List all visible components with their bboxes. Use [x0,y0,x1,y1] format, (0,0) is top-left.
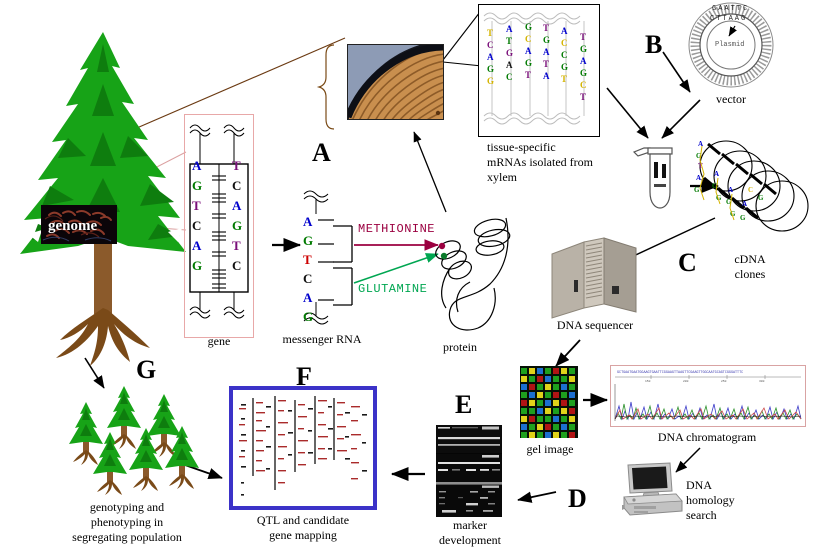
marker-development-caption: marker development [424,518,516,548]
base: A [506,24,513,36]
conifer-tree-icon [8,28,193,353]
gel-image [520,366,578,438]
svg-text:A: A [714,170,719,178]
gene-caption: gene [184,334,254,348]
plasmid-inner-label: Plasmid [715,41,744,49]
base: A [580,56,587,68]
chromatogram-caption: DNA chromatogram [612,430,802,444]
step-letter-B: B [645,30,662,60]
computer-caption: DNA homology search [686,478,766,523]
arrow-glutamine [354,254,438,283]
microcentrifuge-tube-icon [632,140,684,212]
step-letter-G: G [136,355,156,385]
base: G [487,64,494,76]
tissue-mrna-strand-1: A T G A C [506,24,513,84]
cdna-clones-caption: cDNA clones [710,252,790,282]
gene-base-right-2: A [232,198,242,218]
computer-caption-line-2: search [686,508,766,523]
mrna-bases: A G T C A G [303,214,313,328]
base: C [506,72,513,84]
mrna-base-1: G [303,233,313,252]
tissue-mrna-strand-0: T C A G G [487,28,494,88]
step-letter-E: E [455,390,472,420]
leader-wood-to-mrnabox-top [443,12,480,60]
tissue-mrna-caption-line-2: xylem [487,170,622,185]
base: C [561,50,568,62]
tissue-mrna-strand-5: T G A G C T [580,32,587,104]
population-caption-line-0: genotyping and [42,500,212,515]
base: G [525,58,532,70]
gene-base-right-3: G [232,218,242,238]
svg-text:GCTGAATGAATGGAAGTGAATTCGGAAGTT: GCTGAATGAATGGAAGTGAATTCGGAAGTTAAGTTCGAAG… [617,371,743,375]
gene-base-left-1: G [192,178,202,198]
gene-bases-left: A G T C A G [192,158,202,278]
arrow-mrnabox-to-tube [607,88,648,138]
arrow-computer-to-marker [518,492,556,500]
cdna-caption-line-0: cDNA [710,252,790,267]
svg-text:200: 200 [683,380,689,383]
base: G [543,35,550,47]
computer-caption-line-0: DNA [686,478,766,493]
base: A [525,46,532,58]
base: G [580,44,587,56]
mrna-base-2: T [303,252,313,271]
gene-base-left-5: G [192,258,202,278]
methionine-residue [439,243,445,249]
svg-text:C: C [748,186,753,194]
marker-caption-line-1: development [424,533,516,548]
gel-electrophoresis-graphic [520,366,578,438]
tissue-mrna-caption-line-0: tissue-specific [487,140,622,155]
step-letter-C: C [678,248,697,278]
glutamine-label: GLUTAMINE [358,282,427,296]
gene-base-right-5: C [232,258,242,278]
mrna-base-5: G [303,309,313,328]
step-letter-F: F [296,362,312,392]
restriction-site-bottom: CTTAAG [710,15,747,23]
gene-base-right-0: T [232,158,242,178]
cdna-caption-line-1: clones [710,267,790,282]
base: G [580,68,587,80]
tissue-mrna-strand-2: G C A G T [525,22,532,82]
svg-text:250: 250 [721,380,727,383]
desktop-computer-icon [622,461,694,517]
linkage-map-graphic [233,390,373,506]
step-letter-D: D [568,484,587,514]
gene-base-right-4: T [232,238,242,258]
base: T [506,36,513,48]
gel-image-caption: gel image [510,442,590,456]
base: A [543,47,550,59]
glutamine-residue [441,253,447,259]
leader-wood-to-mrnabox-bottom [443,62,482,66]
base: G [506,48,513,60]
step-letter-A: A [312,138,331,168]
svg-text:300: 300 [759,380,765,383]
diagram-canvas: genome A [0,0,815,550]
population-caption-line-2: segregating population [42,530,212,545]
svg-text:150: 150 [645,380,651,383]
brace-wood-left [319,45,334,129]
base: T [487,28,494,40]
svg-text:A: A [696,174,701,182]
qtl-caption-line-0: QTL and candidate [225,513,381,528]
base: C [487,40,494,52]
arrow-sequencer-to-gel [556,340,580,366]
gene-base-left-3: C [192,218,202,238]
base: A [543,71,550,83]
population-caption-line-1: phenotyping in [42,515,212,530]
tissue-mrna-caption-line-1: mRNAs isolated from [487,155,622,170]
qtl-mapping-caption: QTL and candidate gene mapping [225,513,381,543]
mrna-base-4: A [303,290,313,309]
tissue-mrna-caption: tissue-specific mRNAs isolated from xyle… [487,140,622,185]
base: T [543,59,550,71]
base: A [487,52,494,64]
marker-caption-line-0: marker [424,518,516,533]
svg-text:A: A [728,186,733,194]
tissue-mrna-strand-4: A C C G T [561,26,568,86]
dna-chromatogram-panel: GCTGAATGAATGGAAGTGAATTCGGAAGTTAAGTTCGAAG… [610,365,806,427]
tissue-mrna-strand-3: T G A T A [543,23,550,83]
base: T [580,92,587,104]
genome-label: genome [48,218,97,235]
dna-sequencer-icon [550,236,640,322]
cdna-clones-icon: A G T A G A G G A G G A G C G [690,136,815,251]
base: G [525,22,532,34]
base: G [487,76,494,88]
arrow-protein-to-wood [414,132,446,212]
base: C [561,38,568,50]
svg-text:G: G [758,194,764,202]
svg-text:G: G [694,186,700,194]
base: G [561,62,568,74]
base: T [580,32,587,44]
vector-caption: vector [693,92,769,106]
svg-text:A: A [742,200,747,208]
tree-rings-graphic [348,45,444,120]
gene-base-left-4: A [192,238,202,258]
segregating-population-trees [62,382,210,492]
chromatogram-trace: GCTGAATGAATGGAAGTGAATTCGGAAGTTAAGTTCGAAG… [611,366,805,426]
wood-cross-section-image [347,44,444,120]
computer-caption-line-1: homology [686,493,766,508]
segregating-population-caption: genotyping and phenotyping in segregatin… [42,500,212,545]
sequencer-caption: DNA sequencer [530,318,660,332]
gene-bases-right: T C A G T C [232,158,242,278]
marker-gel-graphic [436,425,502,517]
protein-structure-icon [428,208,524,338]
base: A [506,60,513,72]
mrna-base-3: C [303,271,313,290]
protein-caption: protein [418,340,502,354]
arrow-B [663,52,690,92]
base: T [561,74,568,86]
methionine-label: METHIONINE [358,222,435,236]
base: T [525,70,532,82]
mrna-base-0: A [303,214,313,233]
base: A [561,26,568,38]
gene-base-right-1: C [232,178,242,198]
mrna-caption: messenger RNA [268,332,376,346]
restriction-site-top: GAATTC [712,5,749,13]
base: T [543,23,550,35]
gene-base-left-2: T [192,198,202,218]
marker-development-gel [436,425,502,517]
gene-base-left-0: A [192,158,202,178]
base: C [580,80,587,92]
qtl-caption-line-1: gene mapping [225,528,381,543]
base: C [525,34,532,46]
svg-text:G: G [740,214,746,222]
